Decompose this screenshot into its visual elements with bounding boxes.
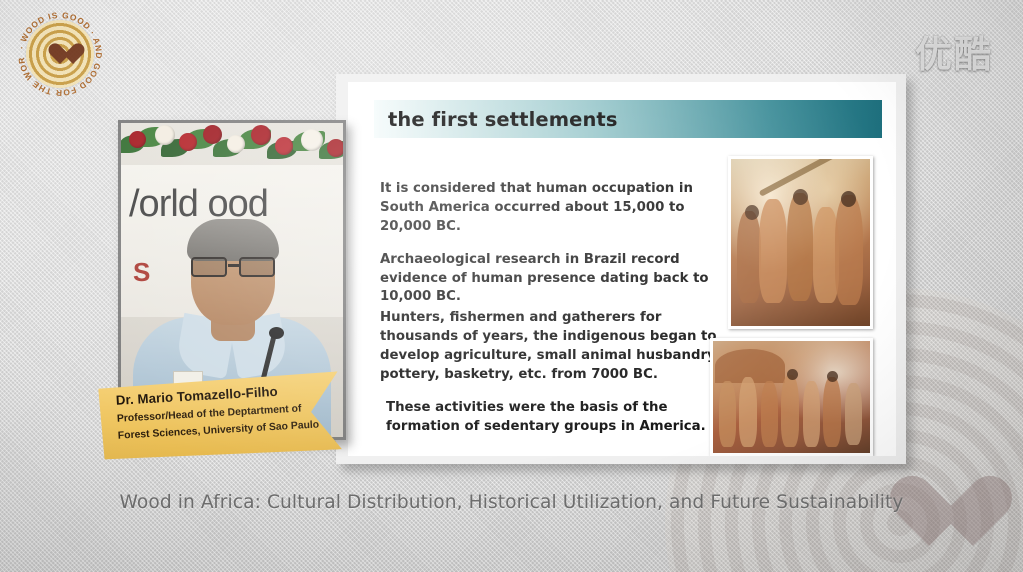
slide-content: the first settlements It is considered t… bbox=[348, 82, 896, 456]
microphone-icon bbox=[269, 327, 284, 339]
slide-body-text: It is considered that human occupation i… bbox=[380, 180, 730, 451]
floral-garland bbox=[121, 123, 343, 189]
slide-panel: the first settlements It is considered t… bbox=[336, 74, 906, 464]
youku-watermark: 优酷 bbox=[915, 24, 993, 78]
slide-paragraph-1: It is considered that human occupation i… bbox=[380, 180, 730, 237]
slide-paragraph-3: Hunters, fishermen and gatherers for tho… bbox=[380, 309, 730, 385]
indigenous-hunting-painting bbox=[728, 156, 873, 329]
speaker-hair bbox=[187, 219, 279, 261]
slide-title: the first settlements bbox=[388, 108, 618, 131]
wood-ring-heart-logo: · WOOD IS GOOD · AND GOOD FOR THE WORLD … bbox=[14, 8, 106, 100]
background-heart-watermark bbox=[887, 472, 971, 556]
logo-arc-text: · WOOD IS GOOD · AND GOOD FOR THE WORLD … bbox=[14, 8, 104, 98]
speaker-glasses-icon bbox=[189, 257, 277, 277]
logo-arc-textpath: · WOOD IS GOOD · AND GOOD FOR THE WORLD … bbox=[14, 8, 104, 98]
indigenous-village-painting bbox=[710, 338, 873, 456]
presentation-stage: · WOOD IS GOOD · AND GOOD FOR THE WORLD … bbox=[0, 0, 1023, 572]
slide-title-bar: the first settlements bbox=[374, 100, 882, 138]
talk-title-caption: Wood in Africa: Cultural Distribution, H… bbox=[0, 492, 1023, 513]
slide-paragraph-2: Archaeological research in Brazil record… bbox=[380, 251, 730, 308]
slide-paragraph-4: These activities were the basis of the f… bbox=[380, 399, 730, 437]
